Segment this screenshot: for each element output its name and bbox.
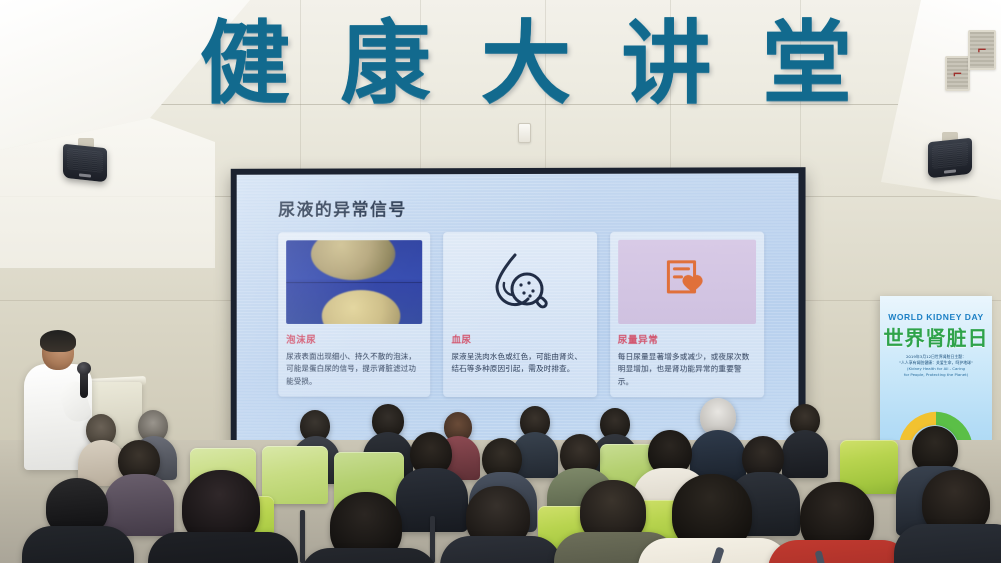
speaker-brand-plate [79,173,91,177]
banner-subtitle: 2019年3月12日世界肾脏日主题： "人人享有肾脏健康：关爱生命，呵护地球" … [888,354,984,377]
presenter-hair [40,330,76,352]
card-body-text: 尿液呈洗肉水色或红色，可能由肾炎、结石等多种原因引起，需及时排查。 [451,351,588,376]
lecture-hall-scene: 健 康 大 讲 堂 ⌐ ⌐ 尿液的异常信号 [0,0,1001,563]
wall-vent-icon: ⌐ [968,30,996,70]
torso [300,548,438,563]
wall-title-char-2: 康 [341,19,431,109]
wall-vent-icon: ⌐ [945,56,970,91]
foamy-urine-photo [286,240,422,324]
chair-leg [430,516,435,563]
wall-title-char-5: 堂 [762,19,852,109]
slide-card-hematuria: 血尿 尿液呈洗肉水色或红色，可能由肾炎、结石等多种原因引起，需及时排查。 [443,232,596,397]
chair[interactable] [262,446,328,504]
chair-leg [300,510,305,563]
wall-title-char-3: 大 [481,19,571,109]
slide-card-urine-volume: 尿量异常 每日尿量显著增多或减少，或夜尿次数明显增加，也是肾功能异常的重要警示。 [610,232,764,398]
card-body-text: 每日尿量显著增多或减少，或夜尿次数明显增加，也是肾功能异常的重要警示。 [618,351,756,388]
urine-sample-upper [311,240,396,280]
slide-card-row: 泡沫尿 尿液表面出现细小、持久不散的泡沫，可能是蛋白尿的信号，提示肾脏滤过功能受… [278,232,764,398]
banner-subtitle-cn2: "人人享有肾脏健康：关爱生命，呵护地球" [888,360,984,366]
vent-mark-label: ⌐ [952,67,962,81]
slide-title: 尿液的异常信号 [278,195,407,220]
card-heading: 泡沫尿 [286,332,422,346]
report-heart-svg [660,255,714,309]
torso [22,526,134,563]
torso-red-coat [768,540,912,563]
banner-subtitle-en2: for People, Protecting the Planet) [888,372,984,378]
torso [894,524,1001,563]
ceiling-speaker-left [63,144,107,183]
microphone-icon [77,362,91,375]
torso [148,532,298,563]
banner-title-en: WORLD KIDNEY DAY [880,312,992,322]
document-heart-icon [618,240,756,324]
speaker-grille [932,142,968,169]
wall-title-char-4: 讲 [622,19,712,109]
wall-title-char-1: 健 [200,19,290,109]
droplet-magnifier-svg [485,247,555,317]
speaker-brand-plate [944,169,956,173]
blood-drop-magnifier-icon [451,240,588,324]
torso [104,474,174,536]
torso [440,536,562,563]
vent-mark-label: ⌐ [977,43,987,57]
ceiling-speaker-right [928,138,972,179]
card-body-text: 尿液表面出现细小、持久不散的泡沫，可能是蛋白尿的信号，提示肾脏滤过功能受损。 [286,351,422,388]
urine-sample-lower [322,290,401,324]
photo-divider [286,282,422,283]
torso [782,430,828,478]
light-switch[interactable] [518,123,531,143]
slide-card-foamy-urine: 泡沫尿 尿液表面出现细小、持久不散的泡沫，可能是蛋白尿的信号，提示肾脏滤过功能受… [278,232,430,397]
card-heading: 尿量异常 [618,332,756,346]
speaker-grille [67,148,103,173]
banner-title-cn: 世界肾脏日 [880,322,992,351]
card-heading: 血尿 [451,332,588,346]
venue-wall-title: 健 康 大 讲 堂 [196,8,856,120]
